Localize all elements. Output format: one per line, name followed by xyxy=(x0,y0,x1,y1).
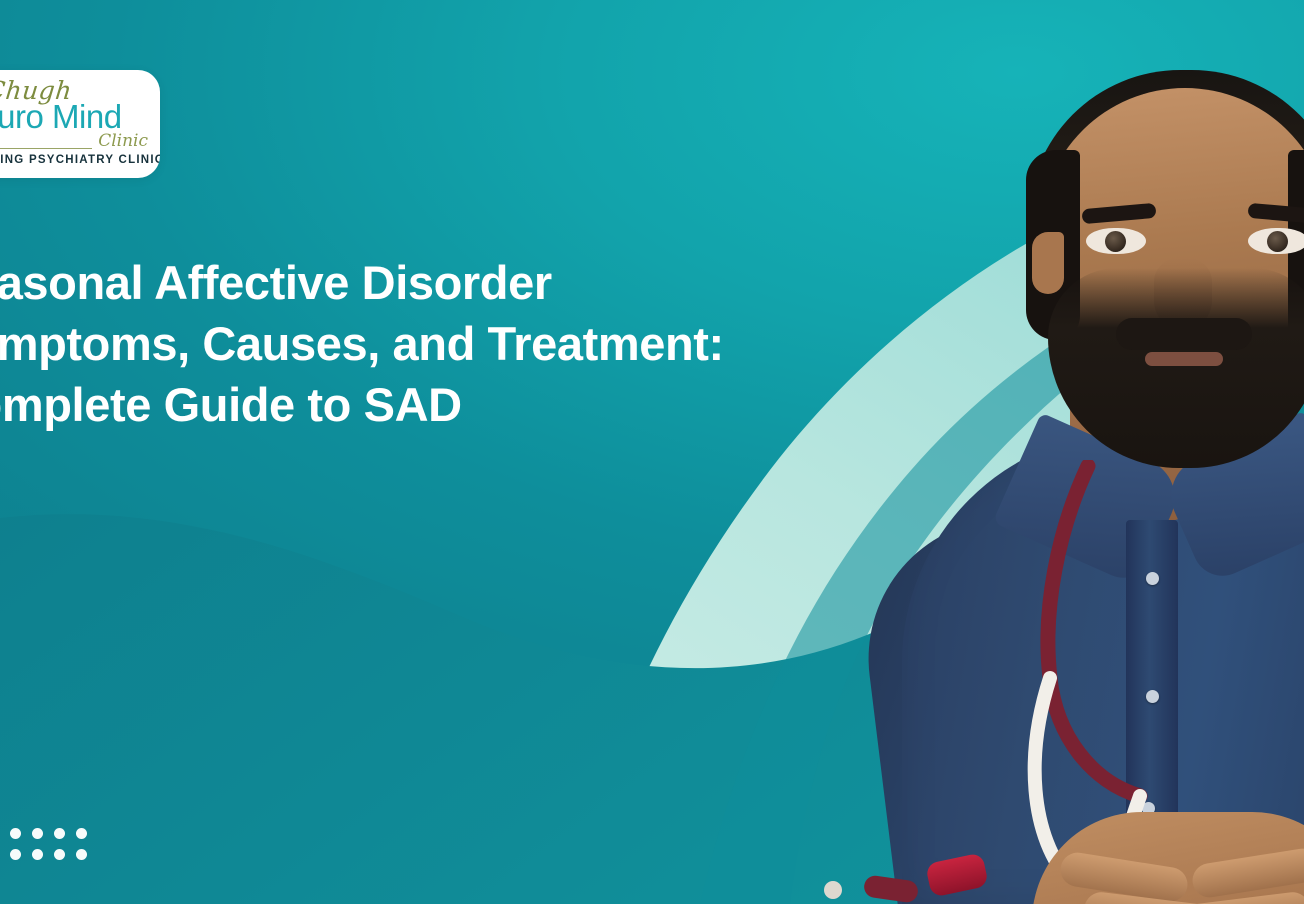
dot xyxy=(32,828,43,839)
logo-script-suffix: Clinic xyxy=(98,131,148,151)
mustache xyxy=(1116,318,1252,350)
doctor-portrait-photo xyxy=(640,0,1304,904)
logo-divider-rule xyxy=(0,148,92,149)
video-thumbnail-canvas: Chugh Neuro Mind Clinic LEADING PSYCHIAT… xyxy=(0,0,1304,904)
dot xyxy=(10,828,21,839)
dot xyxy=(54,828,65,839)
eye-right xyxy=(1248,228,1304,254)
logo-tagline: LEADING PSYCHIATRY CLINIC xyxy=(0,154,160,166)
eye-left xyxy=(1086,228,1146,254)
iris-left xyxy=(1105,231,1126,252)
logo-inner: Chugh Neuro Mind Clinic LEADING PSYCHIAT… xyxy=(0,70,160,178)
decorative-dot-grid xyxy=(0,828,98,870)
ear-left xyxy=(1032,232,1064,294)
dot xyxy=(54,849,65,860)
lips xyxy=(1145,352,1223,366)
dot xyxy=(76,849,87,860)
iris-right xyxy=(1267,231,1288,252)
dot xyxy=(32,849,43,860)
clinic-logo-card: Chugh Neuro Mind Clinic LEADING PSYCHIAT… xyxy=(0,70,160,178)
dot xyxy=(76,828,87,839)
dot xyxy=(10,849,21,860)
